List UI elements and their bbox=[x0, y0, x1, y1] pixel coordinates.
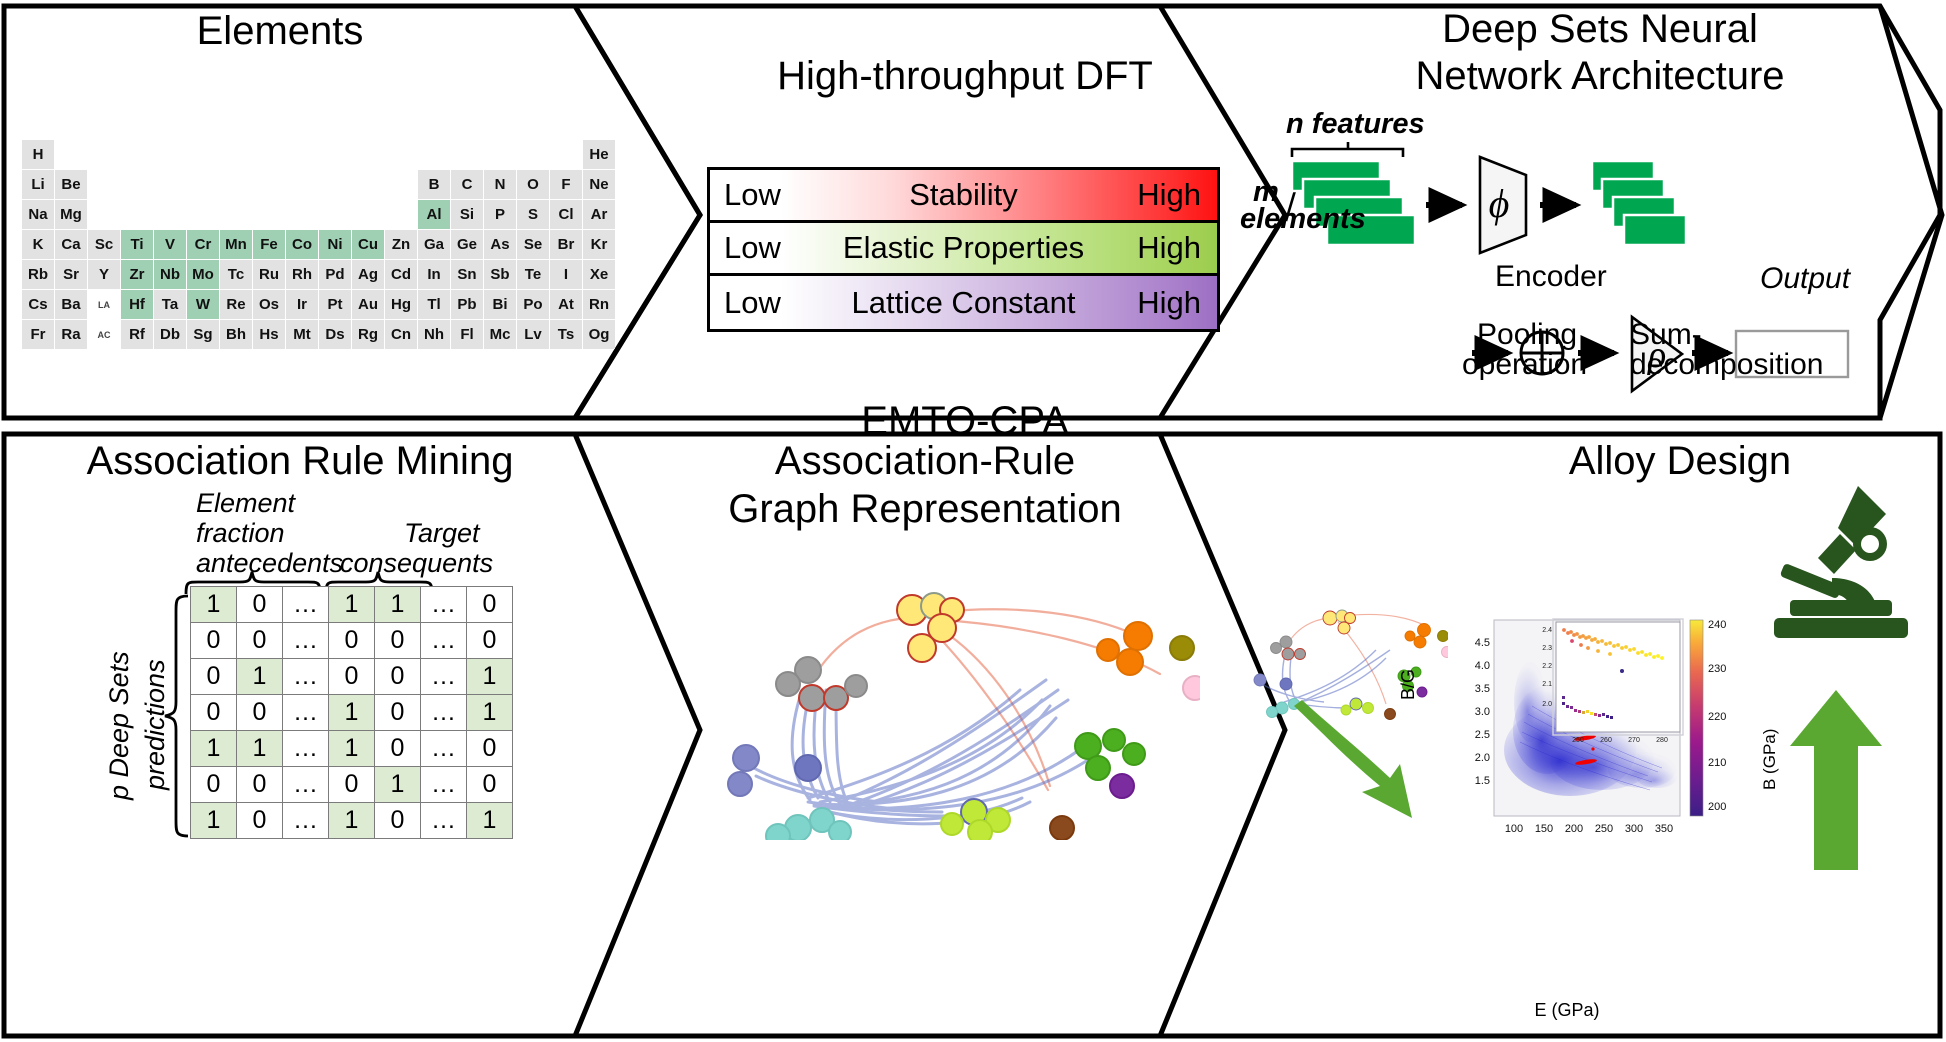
graph-title-line1: Association-Rule bbox=[690, 440, 1160, 482]
periodic-cell-Mo: Mo bbox=[187, 260, 219, 289]
periodic-cell-V: V bbox=[154, 230, 186, 259]
microscope-icon bbox=[1760, 482, 1920, 652]
pooling-label-line1: Pooling bbox=[1477, 318, 1577, 352]
periodic-cell-empty bbox=[187, 170, 219, 199]
matrix-row: 00…00…0 bbox=[191, 623, 513, 659]
colorbar-label: B (GPa) bbox=[1760, 729, 1780, 790]
svg-text:4.0: 4.0 bbox=[1475, 660, 1490, 672]
periodic-cell-Pd: Pd bbox=[319, 260, 351, 289]
arm-matrix: 10…11…000…00…001…00…100…10…111…10…000…01… bbox=[190, 586, 513, 839]
green-arrow-to-microscope-icon bbox=[1778, 690, 1898, 870]
svg-text:200: 200 bbox=[1565, 823, 1583, 835]
green-arrow-to-plot-icon bbox=[1288, 700, 1448, 830]
periodic-cell-empty bbox=[253, 140, 285, 169]
svg-text:ϕ: ϕ bbox=[1489, 181, 1510, 226]
svg-text:2.0: 2.0 bbox=[1475, 752, 1490, 764]
matrix-cell: 0 bbox=[191, 767, 237, 803]
svg-text:2.4: 2.4 bbox=[1542, 627, 1552, 634]
svg-text:1.5: 1.5 bbox=[1475, 775, 1490, 787]
periodic-cell-Ru: Ru bbox=[253, 260, 285, 289]
elements-title: Elements bbox=[60, 10, 500, 52]
matrix-cell: 1 bbox=[329, 803, 375, 839]
periodic-cell-empty bbox=[154, 200, 186, 229]
matrix-cell: … bbox=[421, 587, 467, 623]
periodic-cell-AC: AC bbox=[88, 320, 120, 349]
periodic-cell-empty bbox=[253, 170, 285, 199]
svg-text:220: 220 bbox=[1708, 711, 1726, 723]
svg-text:2.2: 2.2 bbox=[1542, 663, 1552, 670]
periodic-cell-Ca: Ca bbox=[55, 230, 87, 259]
periodic-cell-Sg: Sg bbox=[187, 320, 219, 349]
periodic-cell-Ag: Ag bbox=[352, 260, 384, 289]
matrix-cell: 1 bbox=[237, 659, 283, 695]
matrix-cell: … bbox=[421, 659, 467, 695]
periodic-cell-Hg: Hg bbox=[385, 290, 417, 319]
periodic-cell-empty bbox=[88, 170, 120, 199]
periodic-cell-Rb: Rb bbox=[22, 260, 54, 289]
graph-title-line2: Graph Representation bbox=[660, 488, 1190, 530]
deepsets-title-line1: Deep Sets Neural bbox=[1320, 8, 1880, 50]
periodic-cell-Rn: Rn bbox=[583, 290, 615, 319]
periodic-cell-Ra: Ra bbox=[55, 320, 87, 349]
periodic-cell-Te: Te bbox=[517, 260, 549, 289]
periodic-cell-Hf: Hf bbox=[121, 290, 153, 319]
dft-bar-elastic: Low Elastic Properties High bbox=[710, 223, 1217, 276]
matrix-cell: 0 bbox=[375, 659, 421, 695]
matrix-row: 10…11…0 bbox=[191, 587, 513, 623]
rows-label-line2: predictions bbox=[140, 659, 171, 790]
consequents-label-line1: Target bbox=[404, 518, 480, 548]
matrix-row: 00…01…0 bbox=[191, 767, 513, 803]
elements-count-label: elements bbox=[1240, 203, 1366, 236]
plot-xlabel: E (GPa) bbox=[1452, 1000, 1682, 1021]
periodic-cell-empty bbox=[220, 170, 252, 199]
periodic-cell-B: B bbox=[418, 170, 450, 199]
matrix-cell: … bbox=[283, 623, 329, 659]
pooling-label-line2: operation bbox=[1462, 348, 1587, 382]
matrix-cell: 1 bbox=[329, 695, 375, 731]
periodic-cell-empty bbox=[385, 170, 417, 199]
plot-ylabel: B/G bbox=[1398, 669, 1419, 700]
matrix-cell: 0 bbox=[375, 623, 421, 659]
arm-title: Association Rule Mining bbox=[40, 440, 560, 482]
periodic-cell-Cr: Cr bbox=[187, 230, 219, 259]
svg-text:4.5: 4.5 bbox=[1475, 637, 1490, 649]
sum-label-line2: decomposition bbox=[1630, 348, 1823, 382]
periodic-cell-empty bbox=[418, 140, 450, 169]
periodic-cell-Nb: Nb bbox=[154, 260, 186, 289]
bar-high-label: High bbox=[1137, 230, 1201, 266]
matrix-cell: … bbox=[283, 587, 329, 623]
periodic-cell-Ts: Ts bbox=[550, 320, 582, 349]
matrix-cell: 0 bbox=[191, 623, 237, 659]
arm-matrix-table: 10…11…000…00…001…00…100…10…111…10…000…01… bbox=[190, 586, 513, 839]
matrix-cell: 0 bbox=[467, 731, 513, 767]
matrix-row: 11…10…0 bbox=[191, 731, 513, 767]
svg-text:350: 350 bbox=[1655, 823, 1673, 835]
periodic-cell-K: K bbox=[22, 230, 54, 259]
periodic-cell-At: At bbox=[550, 290, 582, 319]
periodic-cell-Li: Li bbox=[22, 170, 54, 199]
periodic-row: FrRaACRfDbSgBhHsMtDsRgCnNhFlMcLvTsOg bbox=[22, 320, 616, 350]
svg-text:2.0: 2.0 bbox=[1542, 701, 1552, 708]
bar-high-label: High bbox=[1137, 285, 1201, 321]
periodic-cell-Nh: Nh bbox=[418, 320, 450, 349]
periodic-cell-empty bbox=[88, 140, 120, 169]
periodic-cell-Re: Re bbox=[220, 290, 252, 319]
antecedents-label-line2: fraction bbox=[196, 518, 285, 548]
matrix-cell: 0 bbox=[329, 659, 375, 695]
dft-property-bars: Low Stability High Low Elastic Propertie… bbox=[707, 167, 1220, 332]
periodic-cell-Lv: Lv bbox=[517, 320, 549, 349]
svg-text:280: 280 bbox=[1656, 737, 1668, 744]
periodic-cell-Fe: Fe bbox=[253, 230, 285, 259]
periodic-cell-empty bbox=[385, 200, 417, 229]
periodic-cell-Cd: Cd bbox=[385, 260, 417, 289]
periodic-cell-empty bbox=[253, 200, 285, 229]
dft-method-label: EMTO-CPA bbox=[710, 400, 1220, 442]
matrix-row: 00…10…1 bbox=[191, 695, 513, 731]
periodic-row: NaMgAlSiPSClAr bbox=[22, 200, 616, 230]
periodic-row: KCaScTiVCrMnFeCoNiCuZnGaGeAsSeBrKr bbox=[22, 230, 616, 260]
periodic-cell-Pb: Pb bbox=[451, 290, 483, 319]
periodic-cell-empty bbox=[286, 200, 318, 229]
periodic-cell-Os: Os bbox=[253, 290, 285, 319]
bar-low-label: Low bbox=[724, 285, 781, 321]
periodic-cell-Tc: Tc bbox=[220, 260, 252, 289]
periodic-cell-Mg: Mg bbox=[55, 200, 87, 229]
matrix-cell: 1 bbox=[467, 659, 513, 695]
periodic-cell-Bi: Bi bbox=[484, 290, 516, 319]
periodic-cell-empty bbox=[484, 140, 516, 169]
svg-text:250: 250 bbox=[1595, 823, 1613, 835]
matrix-cell: 1 bbox=[191, 587, 237, 623]
periodic-cell-In: In bbox=[418, 260, 450, 289]
matrix-cell: 1 bbox=[237, 731, 283, 767]
periodic-cell-empty bbox=[55, 140, 87, 169]
alloy-design-scatter-plot: 2.4 2.3 2.2 2.1 2.0 250 260 270 280 4.5 … bbox=[1452, 610, 1742, 865]
periodic-cell-Cs: Cs bbox=[22, 290, 54, 319]
periodic-cell-Sb: Sb bbox=[484, 260, 516, 289]
matrix-cell: … bbox=[283, 659, 329, 695]
matrix-cell: 0 bbox=[375, 695, 421, 731]
dft-title: High-throughput DFT bbox=[710, 55, 1220, 97]
bar-low-label: Low bbox=[724, 230, 781, 266]
svg-text:240: 240 bbox=[1708, 619, 1726, 631]
periodic-cell-empty bbox=[121, 200, 153, 229]
encoder-label: Encoder bbox=[1495, 260, 1607, 294]
matrix-cell: … bbox=[421, 767, 467, 803]
periodic-cell-Ir: Ir bbox=[286, 290, 318, 319]
periodic-cell-Tl: Tl bbox=[418, 290, 450, 319]
svg-text:100: 100 bbox=[1505, 823, 1523, 835]
periodic-cell-Cu: Cu bbox=[352, 230, 384, 259]
periodic-cell-As: As bbox=[484, 230, 516, 259]
periodic-cell-empty bbox=[286, 140, 318, 169]
periodic-cell-Rf: Rf bbox=[121, 320, 153, 349]
periodic-cell-empty bbox=[319, 140, 351, 169]
periodic-cell-Mc: Mc bbox=[484, 320, 516, 349]
periodic-cell-Na: Na bbox=[22, 200, 54, 229]
matrix-cell: 0 bbox=[375, 731, 421, 767]
periodic-cell-H: H bbox=[22, 140, 54, 169]
periodic-cell-Ds: Ds bbox=[319, 320, 351, 349]
periodic-cell-empty bbox=[154, 170, 186, 199]
periodic-cell-Xe: Xe bbox=[583, 260, 615, 289]
matrix-cell: 1 bbox=[467, 695, 513, 731]
svg-text:3.5: 3.5 bbox=[1475, 683, 1490, 695]
dft-bar-lattice: Low Lattice Constant High bbox=[710, 276, 1217, 329]
matrix-cell: … bbox=[283, 731, 329, 767]
periodic-cell-empty bbox=[319, 200, 351, 229]
matrix-cell: … bbox=[283, 803, 329, 839]
periodic-cell-Co: Co bbox=[286, 230, 318, 259]
matrix-cell: 0 bbox=[237, 695, 283, 731]
periodic-cell-empty bbox=[187, 140, 219, 169]
svg-text:270: 270 bbox=[1628, 737, 1640, 744]
periodic-cell-Sc: Sc bbox=[88, 230, 120, 259]
periodic-row: LiBeBCNOFNe bbox=[22, 170, 616, 200]
matrix-cell: 0 bbox=[329, 767, 375, 803]
periodic-cell-empty bbox=[121, 170, 153, 199]
periodic-cell-S: S bbox=[517, 200, 549, 229]
deepsets-title-line2: Network Architecture bbox=[1320, 55, 1880, 97]
matrix-cell: 0 bbox=[237, 803, 283, 839]
periodic-cell-F: F bbox=[550, 170, 582, 199]
bar-low-label: Low bbox=[724, 177, 781, 213]
matrix-cell: … bbox=[421, 695, 467, 731]
antecedents-label-line1: Element bbox=[196, 488, 295, 518]
svg-text:200: 200 bbox=[1708, 801, 1726, 813]
periodic-cell-Ne: Ne bbox=[583, 170, 615, 199]
periodic-cell-empty bbox=[121, 140, 153, 169]
matrix-cell: 1 bbox=[329, 731, 375, 767]
periodic-cell-Au: Au bbox=[352, 290, 384, 319]
matrix-cell: … bbox=[283, 695, 329, 731]
periodic-cell-Br: Br bbox=[550, 230, 582, 259]
matrix-cell: 0 bbox=[467, 623, 513, 659]
periodic-cell-empty bbox=[319, 170, 351, 199]
alloy-title: Alloy Design bbox=[1480, 440, 1880, 482]
svg-text:3.0: 3.0 bbox=[1475, 706, 1490, 718]
matrix-cell: 0 bbox=[237, 623, 283, 659]
svg-text:210: 210 bbox=[1708, 757, 1726, 769]
svg-text:2.1: 2.1 bbox=[1542, 681, 1552, 688]
periodic-cell-Al: Al bbox=[418, 200, 450, 229]
matrix-cell: 1 bbox=[191, 731, 237, 767]
svg-text:2.5: 2.5 bbox=[1475, 729, 1490, 741]
periodic-table: HHeLiBeBCNOFNeNaMgAlSiPSClArKCaScTiVCrMn… bbox=[22, 140, 616, 350]
association-rule-network-graph bbox=[690, 540, 1200, 840]
matrix-cell: … bbox=[421, 803, 467, 839]
matrix-cell: 0 bbox=[329, 623, 375, 659]
matrix-cell: 0 bbox=[237, 587, 283, 623]
matrix-cell: 1 bbox=[375, 767, 421, 803]
rows-label-line1: p Deep Sets bbox=[104, 651, 135, 800]
matrix-cell: 0 bbox=[467, 587, 513, 623]
periodic-cell-Rg: Rg bbox=[352, 320, 384, 349]
matrix-cell: 1 bbox=[329, 587, 375, 623]
periodic-cell-W: W bbox=[187, 290, 219, 319]
periodic-cell-Cl: Cl bbox=[550, 200, 582, 229]
periodic-cell-Po: Po bbox=[517, 290, 549, 319]
periodic-cell-Ni: Ni bbox=[319, 230, 351, 259]
dft-bar-stability: Low Stability High bbox=[710, 170, 1217, 223]
matrix-cell: 1 bbox=[191, 803, 237, 839]
periodic-cell-Sn: Sn bbox=[451, 260, 483, 289]
bar-high-label: High bbox=[1137, 177, 1201, 213]
periodic-cell-Ba: Ba bbox=[55, 290, 87, 319]
matrix-cell: … bbox=[283, 767, 329, 803]
periodic-cell-Y: Y bbox=[88, 260, 120, 289]
periodic-cell-empty bbox=[352, 140, 384, 169]
matrix-cell: 0 bbox=[191, 695, 237, 731]
matrix-cell: … bbox=[421, 731, 467, 767]
periodic-cell-Og: Og bbox=[583, 320, 615, 349]
periodic-cell-Ta: Ta bbox=[154, 290, 186, 319]
matrix-cell: … bbox=[421, 623, 467, 659]
n-features-label: n features bbox=[1286, 108, 1425, 141]
periodic-cell-I: I bbox=[550, 260, 582, 289]
matrix-cell: 0 bbox=[237, 767, 283, 803]
svg-text:230: 230 bbox=[1708, 663, 1726, 675]
periodic-cell-empty bbox=[154, 140, 186, 169]
periodic-cell-empty bbox=[451, 140, 483, 169]
periodic-row: CsBaLAHfTaWReOsIrPtAuHgTlPbBiPoAtRn bbox=[22, 290, 616, 320]
periodic-cell-Kr: Kr bbox=[583, 230, 615, 259]
periodic-cell-empty bbox=[550, 140, 582, 169]
matrix-cell: 0 bbox=[375, 803, 421, 839]
sum-label-line1: Sum- bbox=[1630, 318, 1702, 352]
periodic-cell-Cn: Cn bbox=[385, 320, 417, 349]
periodic-cell-Mt: Mt bbox=[286, 320, 318, 349]
periodic-cell-Pt: Pt bbox=[319, 290, 351, 319]
matrix-cell: 0 bbox=[191, 659, 237, 695]
periodic-cell-Hs: Hs bbox=[253, 320, 285, 349]
periodic-row: HHe bbox=[22, 140, 616, 170]
svg-text:150: 150 bbox=[1535, 823, 1553, 835]
periodic-cell-N: N bbox=[484, 170, 516, 199]
periodic-cell-empty bbox=[220, 140, 252, 169]
periodic-cell-Ti: Ti bbox=[121, 230, 153, 259]
periodic-cell-Sr: Sr bbox=[55, 260, 87, 289]
periodic-cell-Fr: Fr bbox=[22, 320, 54, 349]
periodic-cell-empty bbox=[220, 200, 252, 229]
periodic-row: RbSrYZrNbMoTcRuRhPdAgCdInSnSbTeIXe bbox=[22, 260, 616, 290]
periodic-cell-empty bbox=[385, 140, 417, 169]
periodic-cell-LA: LA bbox=[88, 290, 120, 319]
matrix-cell: 0 bbox=[467, 767, 513, 803]
periodic-cell-empty bbox=[187, 200, 219, 229]
periodic-cell-Db: Db bbox=[154, 320, 186, 349]
periodic-cell-Ge: Ge bbox=[451, 230, 483, 259]
periodic-cell-Bh: Bh bbox=[220, 320, 252, 349]
periodic-cell-empty bbox=[286, 170, 318, 199]
periodic-cell-Zr: Zr bbox=[121, 260, 153, 289]
output-label: Output bbox=[1760, 262, 1850, 296]
periodic-cell-P: P bbox=[484, 200, 516, 229]
svg-text:260: 260 bbox=[1600, 737, 1612, 744]
matrix-row: 10…10…1 bbox=[191, 803, 513, 839]
periodic-cell-Fl: Fl bbox=[451, 320, 483, 349]
periodic-cell-empty bbox=[88, 200, 120, 229]
periodic-cell-C: C bbox=[451, 170, 483, 199]
periodic-cell-O: O bbox=[517, 170, 549, 199]
periodic-cell-Si: Si bbox=[451, 200, 483, 229]
periodic-cell-empty bbox=[352, 200, 384, 229]
svg-text:2.3: 2.3 bbox=[1542, 645, 1552, 652]
svg-text:250: 250 bbox=[1572, 737, 1584, 744]
periodic-cell-Rh: Rh bbox=[286, 260, 318, 289]
periodic-cell-Zn: Zn bbox=[385, 230, 417, 259]
periodic-cell-empty bbox=[352, 170, 384, 199]
periodic-cell-Ar: Ar bbox=[583, 200, 615, 229]
matrix-cell: 1 bbox=[375, 587, 421, 623]
matrix-cell: 1 bbox=[467, 803, 513, 839]
periodic-cell-He: He bbox=[583, 140, 615, 169]
periodic-cell-Be: Be bbox=[55, 170, 87, 199]
matrix-row: 01…00…1 bbox=[191, 659, 513, 695]
periodic-cell-Mn: Mn bbox=[220, 230, 252, 259]
periodic-cell-empty bbox=[517, 140, 549, 169]
svg-text:300: 300 bbox=[1625, 823, 1643, 835]
periodic-cell-Ga: Ga bbox=[418, 230, 450, 259]
periodic-cell-Se: Se bbox=[517, 230, 549, 259]
